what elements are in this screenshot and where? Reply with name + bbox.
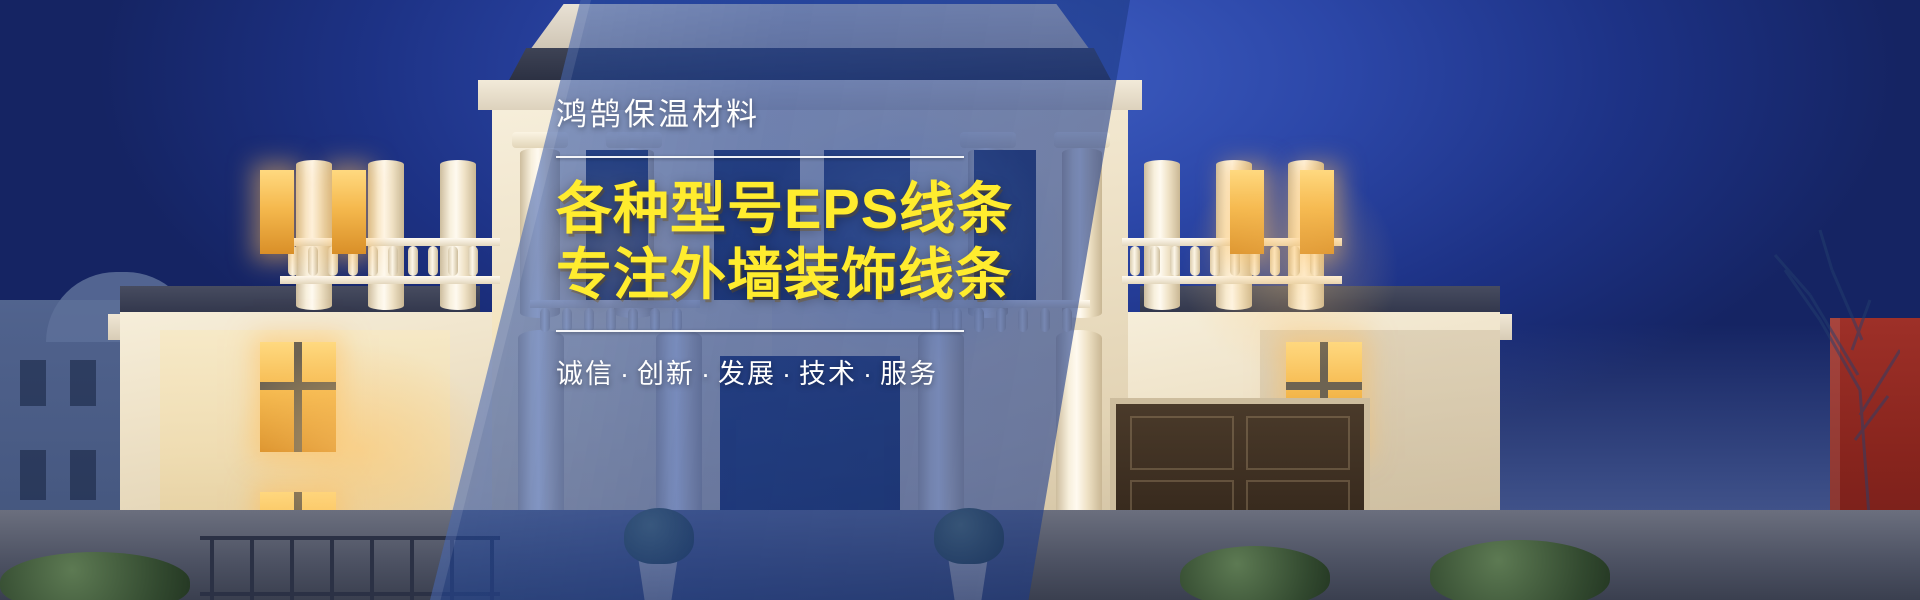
tagline: 诚信·创新·发展·技术·服务 bbox=[556, 352, 1026, 391]
balustrade-rail bbox=[280, 276, 500, 284]
distant-window bbox=[20, 360, 46, 406]
tagline-separator: · bbox=[776, 359, 799, 389]
balustrade-rail bbox=[280, 238, 500, 246]
wing-column bbox=[1144, 160, 1180, 310]
brand-title: 鸿鹄保温材料 bbox=[556, 96, 1026, 133]
tagline-item: 创新 bbox=[637, 359, 695, 389]
window-lit bbox=[1300, 170, 1334, 254]
window-lit bbox=[1230, 170, 1264, 254]
shrub bbox=[1180, 546, 1330, 600]
shrub bbox=[1430, 540, 1610, 600]
window-lit bbox=[332, 170, 366, 254]
distant-window bbox=[70, 360, 96, 406]
headline-line-2: 专注外墙装饰线条 bbox=[556, 242, 1026, 308]
window-transom bbox=[260, 382, 336, 390]
tagline-item: 诚信 bbox=[556, 359, 614, 389]
divider-bottom bbox=[556, 330, 964, 332]
distant-window bbox=[20, 450, 46, 500]
divider-top bbox=[556, 156, 964, 158]
tagline-separator: · bbox=[614, 359, 637, 389]
tree-silhouette bbox=[1570, 200, 1900, 530]
tagline-item: 服务 bbox=[880, 359, 938, 389]
headline-line-1: 各种型号EPS线条 bbox=[556, 176, 1026, 242]
tagline-separator: · bbox=[857, 359, 880, 389]
wing-column bbox=[368, 160, 404, 310]
promo-banner: 鸿鹄保温材料 各种型号EPS线条 专注外墙装饰线条 诚信·创新·发展·技术·服务 bbox=[0, 0, 1920, 600]
tagline-separator: · bbox=[695, 359, 718, 389]
wing-column bbox=[296, 160, 332, 310]
distant-window bbox=[70, 450, 96, 500]
tagline-item: 发展 bbox=[718, 359, 776, 389]
tagline-item: 技术 bbox=[799, 359, 857, 389]
window-transom bbox=[1286, 382, 1362, 390]
window-mullion bbox=[294, 342, 302, 452]
banner-text-block: 鸿鹄保温材料 各种型号EPS线条 专注外墙装饰线条 诚信·创新·发展·技术·服务 bbox=[556, 96, 1026, 391]
balustrade-rail bbox=[1122, 276, 1342, 284]
window-lit bbox=[260, 170, 294, 254]
wing-column bbox=[440, 160, 476, 310]
